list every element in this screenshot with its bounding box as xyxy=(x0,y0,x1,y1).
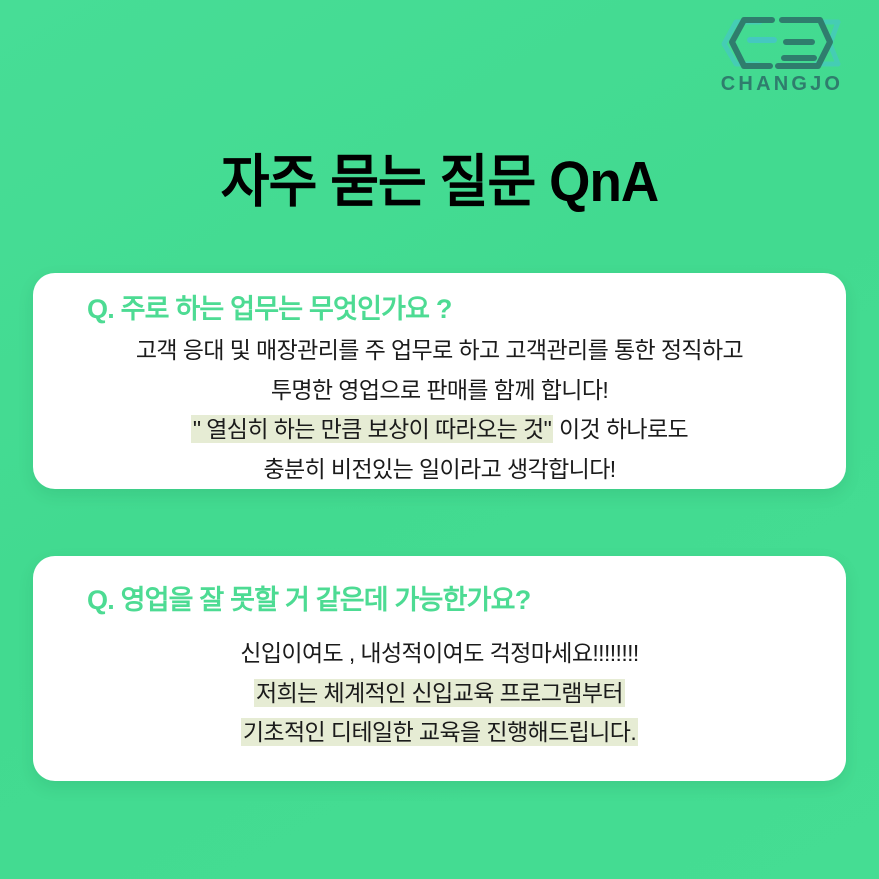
answer-text-plain: 신입이여도 , 내성적이여도 걱정마세요!!!!!!!! xyxy=(240,640,638,666)
answer-text-plain: 이것 하나로도 xyxy=(553,416,688,442)
answer-line: " 열심히 하는 만큼 보상이 따라오는 것" 이것 하나로도 xyxy=(61,410,818,450)
answer-text-plain: 고객 응대 및 매장관리를 주 업무로 하고 고객관리를 통한 정직하고 xyxy=(136,337,743,363)
faq-page: CHANGJO 자주 묻는 질문 QnA Q. 주로 하는 업무는 무엇인가요 … xyxy=(0,0,879,879)
brand-wordmark: CHANGJO xyxy=(707,74,857,94)
answer-text-plain: 투명한 영업으로 판매를 함께 합니다! xyxy=(271,377,608,403)
faq-question-1: Q. 주로 하는 업무는 무엇인가요 ? xyxy=(87,293,818,325)
answer-text-highlight: 기초적인 디테일한 교육을 진행해드립니다. xyxy=(241,718,638,746)
changjo-cj-monogram-icon xyxy=(720,14,844,72)
answer-line: 충분히 비전있는 일이라고 생각합니다! xyxy=(61,450,818,490)
answer-text-plain: 충분히 비전있는 일이라고 생각합니다! xyxy=(263,456,615,482)
answer-line: 고객 응대 및 매장관리를 주 업무로 하고 고객관리를 통한 정직하고 xyxy=(61,331,818,371)
brand-logo: CHANGJO xyxy=(707,14,857,94)
page-title: 자주 묻는 질문 QnA xyxy=(31,150,848,216)
answer-line: 저희는 체계적인 신입교육 프로그램부터 xyxy=(61,674,818,714)
answer-text-highlight: " 열심히 하는 만큼 보상이 따라오는 것" xyxy=(191,415,553,443)
faq-question-2: Q. 영업을 잘 못할 거 같은데 가능한가요? xyxy=(87,584,818,616)
answer-line: 신입이여도 , 내성적이여도 걱정마세요!!!!!!!! xyxy=(61,634,818,674)
answer-line: 기초적인 디테일한 교육을 진행해드립니다. xyxy=(61,713,818,753)
answer-text-highlight: 저희는 체계적인 신입교육 프로그램부터 xyxy=(254,679,625,707)
faq-card-1: Q. 주로 하는 업무는 무엇인가요 ? 고객 응대 및 매장관리를 주 업무로… xyxy=(33,273,846,489)
faq-card-2: Q. 영업을 잘 못할 거 같은데 가능한가요? 신입이여도 , 내성적이여도 … xyxy=(33,556,846,781)
faq-answer-1: 고객 응대 및 매장관리를 주 업무로 하고 고객관리를 통한 정직하고 투명한… xyxy=(61,331,818,489)
answer-line: 투명한 영업으로 판매를 함께 합니다! xyxy=(61,371,818,411)
faq-answer-2: 신입이여도 , 내성적이여도 걱정마세요!!!!!!!! 저희는 체계적인 신입… xyxy=(61,634,818,753)
